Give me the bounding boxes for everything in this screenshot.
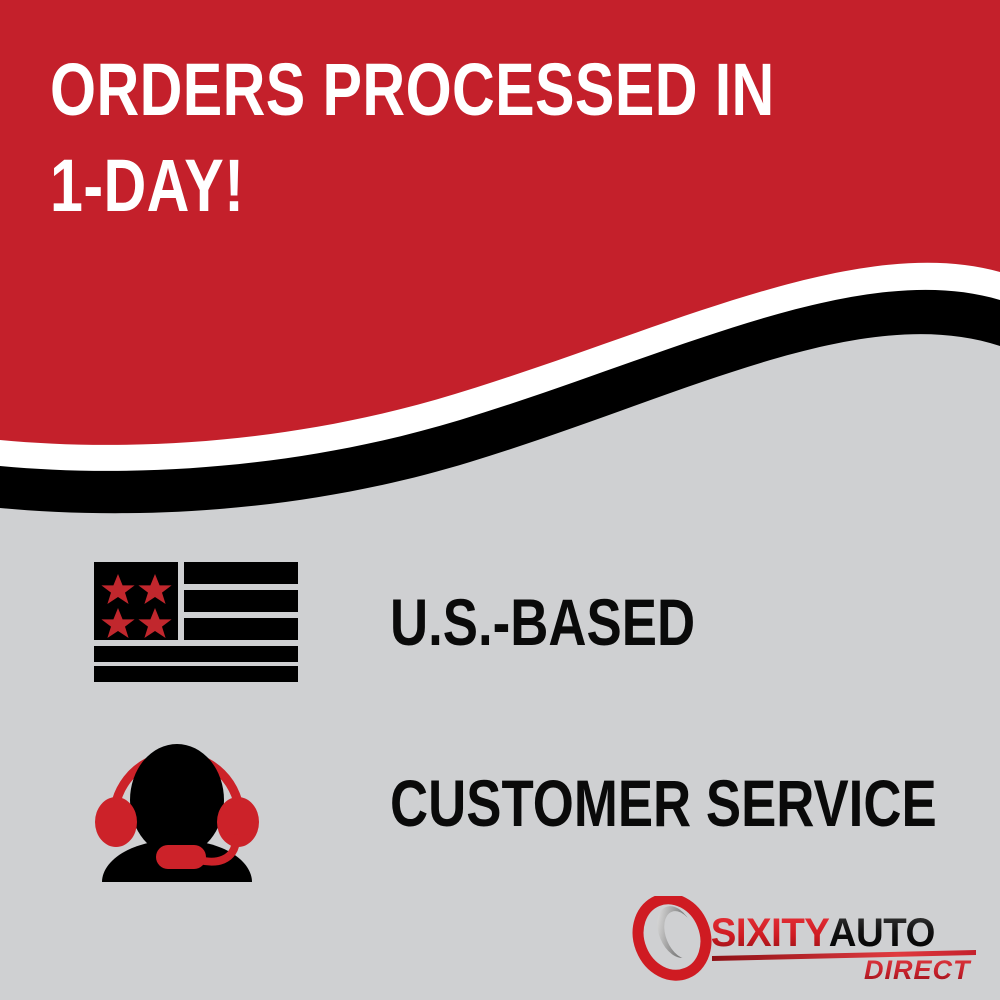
sixity-oval-emblem [632, 896, 717, 982]
feature-row-us-based: U.S.-BASED [92, 560, 771, 684]
headset-earcup-left [95, 797, 137, 847]
brand-logo[interactable]: SIXITY AUTO DIRECT [632, 896, 982, 982]
headline-line-1: ORDERS PROCESSED IN [50, 42, 658, 138]
headset-mic-capsule [156, 845, 206, 869]
headset-support-icon [92, 722, 262, 884]
headline-line-2: 1-DAY! [50, 138, 658, 234]
person-head [130, 744, 224, 856]
logo-word-sixity: SIXITY [711, 911, 830, 955]
flag-short-stripes [184, 562, 298, 640]
feature-label-us-based: U.S.-BASED [390, 584, 695, 660]
promo-banner: ORDERS PROCESSED IN 1-DAY! [0, 0, 1000, 1000]
us-flag-icon-wrap [92, 560, 304, 684]
feature-row-customer-service: CUSTOMER SERVICE [92, 722, 1000, 884]
feature-label-customer-service: CUSTOMER SERVICE [390, 765, 937, 841]
headline-block: ORDERS PROCESSED IN 1-DAY! [50, 42, 810, 234]
logo-word-direct: DIRECT [864, 955, 972, 982]
logo-word-auto: AUTO [829, 911, 935, 955]
flag-full-stripes [94, 646, 298, 682]
headset-icon-wrap [92, 722, 304, 884]
us-flag-icon [92, 560, 300, 684]
flag-canton [94, 562, 178, 640]
